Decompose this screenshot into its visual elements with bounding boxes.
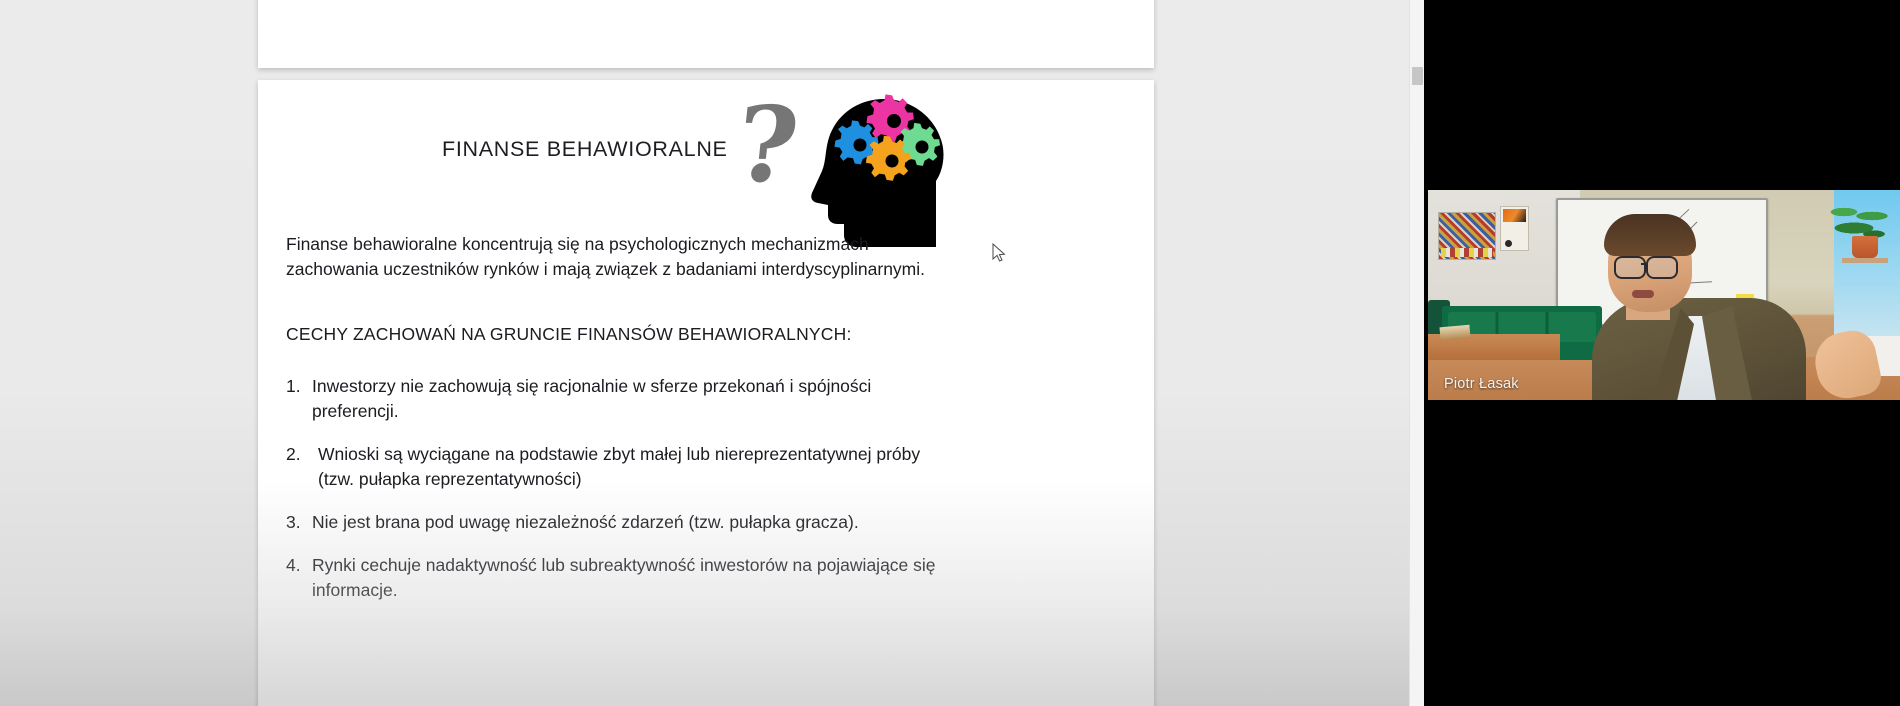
glasses-left-lens [1614,256,1646,279]
video-rail: Piotr Łasak [1424,0,1900,706]
document-scrollbar-track[interactable] [1409,0,1424,706]
document-viewport[interactable]: FINANSE BEHAWIORALNE ? [0,0,1410,706]
slide-title: FINANSE BEHAWIORALNE [442,137,728,162]
list-item-1-line-2: preferencji. [312,399,1130,424]
speaker-mouth [1632,290,1654,298]
list-item-2: 2. Wnioski są wyciągane na podstawie zby… [286,442,1130,492]
document-page-previous [258,0,1154,68]
list-item-4-line-1: Rynki cechuje nadaktywność lub subreakty… [312,553,1130,578]
question-mark-icon: ? [730,93,813,213]
participant-video-frame [1428,182,1900,409]
intro-line-2: zachowania uczestników rynków i mają zwi… [286,257,1130,282]
list-item-3-line-1: Nie jest brana pod uwagę niezależność zd… [312,510,1130,535]
intro-paragraph: Finanse behawioralne koncentrują się na … [286,232,1130,282]
list-item-1: 1. Inwestorzy nie zachowują się racjonal… [286,374,1130,424]
list-item-4-line-2: informacje. [312,578,1130,603]
slide-body: Finanse behawioralne koncentrują się na … [258,232,1154,621]
video-letterbox-top [1428,182,1900,190]
room-background [1428,182,1900,409]
list-item-3: 3. Nie jest brana pod uwagę niezależność… [286,510,1130,535]
meeting-window: FINANSE BEHAWIORALNE ? [0,0,1900,706]
speaker-torso [1592,298,1806,409]
participant-tile-piotr-lasak[interactable]: Piotr Łasak [1428,182,1900,409]
list-item-2-line-1: Wnioski są wyciągane na podstawie zbyt m… [318,442,1130,467]
list-item-3-number: 3. [286,510,310,535]
shared-screen-pane[interactable]: FINANSE BEHAWIORALNE ? [0,0,1424,706]
glasses-right-lens [1646,256,1678,279]
participant-name-label: Piotr Łasak [1444,376,1519,392]
table-book [1439,325,1470,341]
intro-line-1: Finanse behawioralne koncentrują się na … [286,232,1130,257]
speaker-hair [1604,214,1696,256]
list-item-2-line-2: (tzw. pułapka reprezentatywności) [318,467,1130,492]
list-item-4: 4. Rynki cechuje nadaktywność lub subrea… [286,553,1130,603]
behavioral-finance-graphic: ? [730,85,952,251]
head-with-gears-icon [808,85,948,247]
list-item-1-line-1: Inwestorzy nie zachowują się racjonalnie… [312,374,1130,399]
list-item-1-number: 1. [286,374,310,399]
section-heading: CECHY ZACHOWAŃ NA GRUNCIE FINANSÓW BEHAW… [286,322,1130,346]
glasses-bridge [1641,263,1648,265]
plant-pot [1852,236,1878,258]
list-item-4-number: 4. [286,553,310,578]
poster-collage [1438,212,1496,260]
plant-shelf [1842,258,1888,263]
video-letterbox-bottom [1428,400,1900,409]
document-scrollbar-thumb[interactable] [1412,67,1423,85]
poster-orange [1500,206,1529,251]
slide-header: FINANSE BEHAWIORALNE ? [258,80,1154,256]
behaviour-characteristics-list: 1. Inwestorzy nie zachowują się racjonal… [286,374,1130,603]
list-item-2-number: 2. [286,442,316,467]
document-page-current[interactable]: FINANSE BEHAWIORALNE ? [258,80,1154,706]
